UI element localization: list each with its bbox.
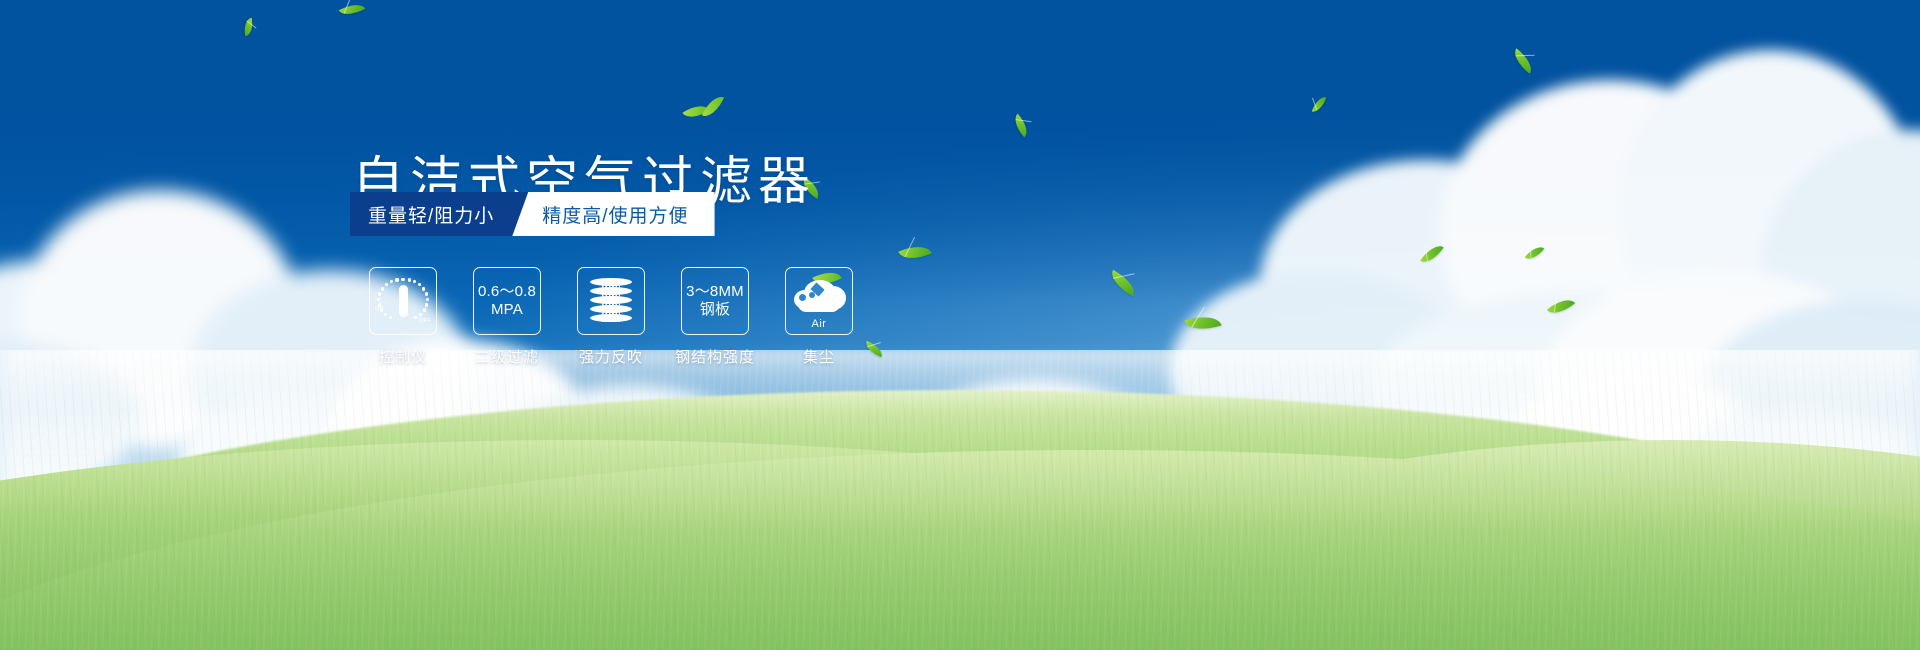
feature-item-dust-collection[interactable]: Air 集尘 — [768, 267, 870, 367]
feature-box: 3～8MM 钢板 — [681, 267, 749, 335]
filter-stack-icon — [588, 276, 634, 326]
steel-line-2: 钢板 — [686, 301, 744, 319]
feature-item-strong-blowback[interactable]: 强力反吹 — [560, 267, 662, 367]
steel-line-1: 3～8MM — [686, 283, 744, 301]
steel-plate-text-icon: 3～8MM 钢板 — [686, 283, 744, 320]
dial-label-on: NO — [375, 306, 384, 312]
pressure-text-icon: 0.6～0.8 MPA — [478, 283, 536, 320]
title-leaf-icon — [684, 93, 726, 123]
feature-box: Air — [785, 267, 853, 335]
feature-item-two-stage-filter[interactable]: 0.6～0.8 MPA 二级过滤 — [456, 267, 558, 367]
feature-caption: 二级过滤 — [475, 346, 539, 367]
banner-content: 自洁式空气过滤器 重量轻/阻力小 精度高/使用方便 — [0, 0, 1920, 650]
hero-banner: 自洁式空气过滤器 重量轻/阻力小 精度高/使用方便 — [0, 0, 1920, 650]
control-dial-icon: NO OFF — [376, 276, 430, 326]
feature-item-controller[interactable]: NO OFF 控制仪 — [352, 267, 454, 367]
feature-item-steel-strength[interactable]: 3～8MM 钢板 钢结构强度 — [664, 267, 766, 367]
air-label: Air — [790, 318, 848, 330]
feature-caption: 控制仪 — [379, 346, 427, 367]
dial-label-off: OFF — [419, 318, 431, 324]
feature-box: 0.6～0.8 MPA — [473, 267, 541, 335]
tab-lightweight-lowresistance[interactable]: 重量轻/阻力小 — [350, 192, 528, 236]
pressure-line-1: 0.6～0.8 — [478, 283, 536, 301]
pressure-line-2: MPA — [478, 301, 536, 319]
feature-caption: 集尘 — [803, 346, 835, 367]
air-cloud-icon: Air — [790, 276, 848, 326]
tab-bar: 重量轻/阻力小 精度高/使用方便 — [350, 192, 715, 236]
feature-box — [577, 267, 645, 335]
feature-caption: 钢结构强度 — [675, 346, 755, 367]
feature-list: NO OFF 控制仪 0.6～0.8 MPA 二级过滤 — [352, 267, 872, 367]
feature-caption: 强力反吹 — [579, 346, 643, 367]
feature-box: NO OFF — [369, 267, 437, 335]
tab-highprecision-easyuse[interactable]: 精度高/使用方便 — [512, 192, 714, 236]
